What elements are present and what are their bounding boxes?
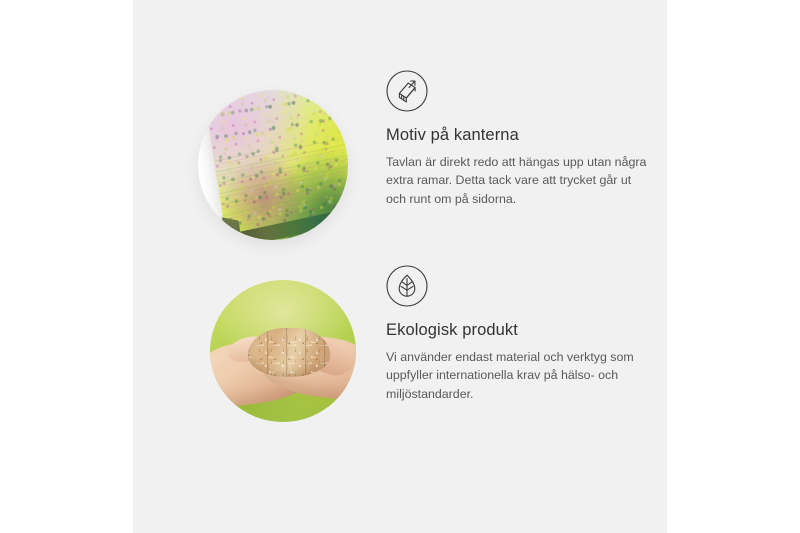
feature-panel: Motiv på kanterna Tavlan är direkt redo …	[133, 0, 667, 533]
canvas-print-artwork	[204, 90, 348, 240]
leaf-icon	[386, 265, 428, 307]
feature-description-eco: Vi använder endast material och verktyg …	[386, 348, 654, 403]
eco-photo-background	[210, 280, 356, 422]
feature-title-edges: Motiv på kanterna	[386, 126, 654, 146]
hands-holding-wood-chips-photo	[210, 280, 356, 422]
feature-title-eco: Ekologisk produkt	[386, 321, 654, 341]
product-feature-page: Motiv på kanterna Tavlan är direkt redo …	[0, 0, 800, 533]
feature-text-edges: Motiv på kanterna Tavlan är direkt redo …	[386, 70, 654, 208]
wood-chips	[248, 328, 330, 376]
canvas-print-corner-photo	[198, 90, 348, 240]
feature-text-eco: Ekologisk produkt Vi använder endast mat…	[386, 265, 654, 403]
canvas-edge-print-icon	[386, 70, 428, 112]
feature-description-edges: Tavlan är direkt redo att hängas upp uta…	[386, 153, 654, 208]
